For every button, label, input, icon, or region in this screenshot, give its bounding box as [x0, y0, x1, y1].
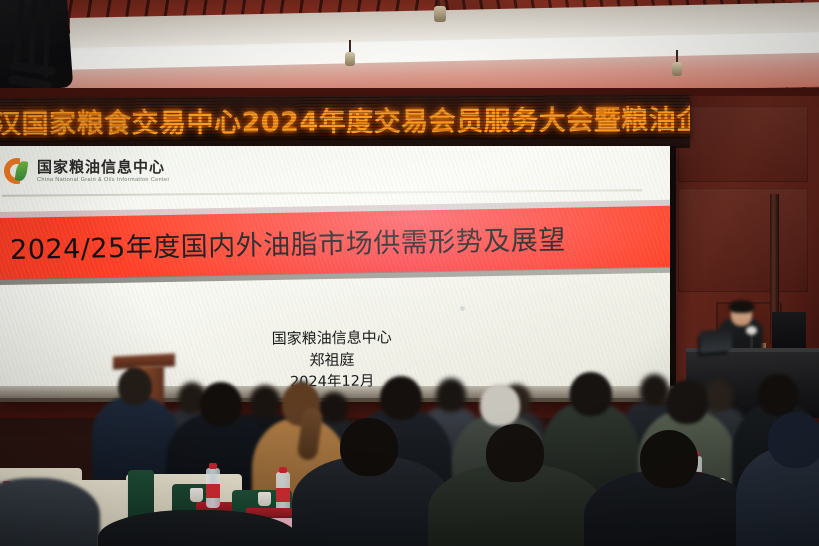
audience-member-head — [380, 376, 422, 420]
audience-member-head — [486, 424, 544, 482]
paper-cup — [258, 492, 271, 506]
audience-member-head — [570, 372, 612, 416]
screen-speck — [342, 342, 345, 345]
screen-speck — [460, 306, 465, 311]
logo-name-en: China National Grain & Oils Information … — [37, 177, 170, 183]
audience-member-head — [666, 380, 708, 424]
audience-member-head — [704, 380, 733, 412]
ceiling — [0, 0, 819, 96]
audience-member-head-cap — [768, 412, 819, 468]
logo-name-cn: 国家粮油信息中心 — [37, 160, 170, 175]
microphone-icon — [746, 326, 757, 335]
audience-member-head — [340, 418, 398, 476]
grain-center-logo-icon — [4, 158, 30, 184]
conference-hall-photo: 汉国家粮食交易中心2024年度交易会员服务大会暨粮油企业座谈会 国家粮油信息中心… — [0, 0, 819, 546]
audience-member-head — [640, 374, 669, 406]
led-banner: 汉国家粮食交易中心2024年度交易会员服务大会暨粮油企业座谈会 — [0, 94, 690, 142]
slide-logo: 国家粮油信息中心 China National Grain & Oils Inf… — [4, 158, 170, 184]
water-bottle — [276, 472, 290, 512]
wall-panel — [678, 106, 808, 182]
audience-member-head — [200, 382, 242, 426]
pendant-light-icon — [672, 62, 682, 76]
audience-area — [0, 360, 819, 546]
pendant-light-icon — [345, 52, 355, 66]
wall-panel — [678, 188, 808, 292]
audience-member-head — [320, 392, 348, 423]
audience-member-head — [118, 368, 152, 405]
slide-divider — [2, 189, 642, 197]
audience-member-head — [758, 374, 798, 416]
paper-cup — [190, 488, 203, 502]
audience-member-head — [250, 385, 280, 418]
water-bottle — [206, 468, 220, 508]
ceiling-fixture-icon — [434, 6, 446, 22]
laptop-icon — [700, 329, 732, 353]
audience-member-head — [640, 430, 698, 488]
presenter-hair — [729, 300, 754, 313]
audience-member-head — [436, 378, 466, 412]
audience-member-head-gray-hair — [480, 384, 520, 426]
led-banner-text: 汉国家粮食交易中心2024年度交易会员服务大会暨粮油企业座谈会 — [0, 98, 690, 141]
